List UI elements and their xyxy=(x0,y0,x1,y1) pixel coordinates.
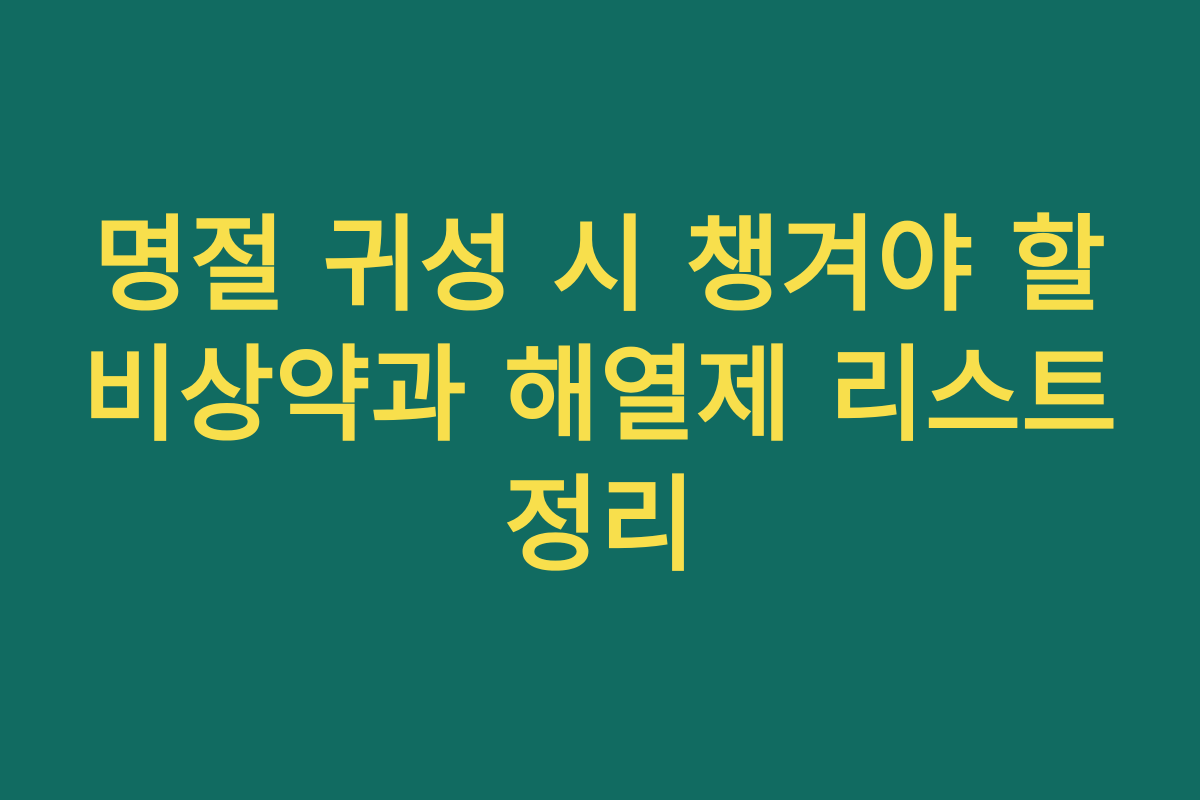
headline-line-2: 비상약과 해열제 리스트 xyxy=(50,330,1150,460)
headline-block: 명절 귀성 시 챙겨야 할 비상약과 해열제 리스트 정리 xyxy=(50,200,1150,590)
headline-line-3: 정리 xyxy=(50,460,1150,590)
thumbnail-card: 명절 귀성 시 챙겨야 할 비상약과 해열제 리스트 정리 xyxy=(0,0,1200,800)
headline-line-1: 명절 귀성 시 챙겨야 할 xyxy=(50,200,1150,330)
